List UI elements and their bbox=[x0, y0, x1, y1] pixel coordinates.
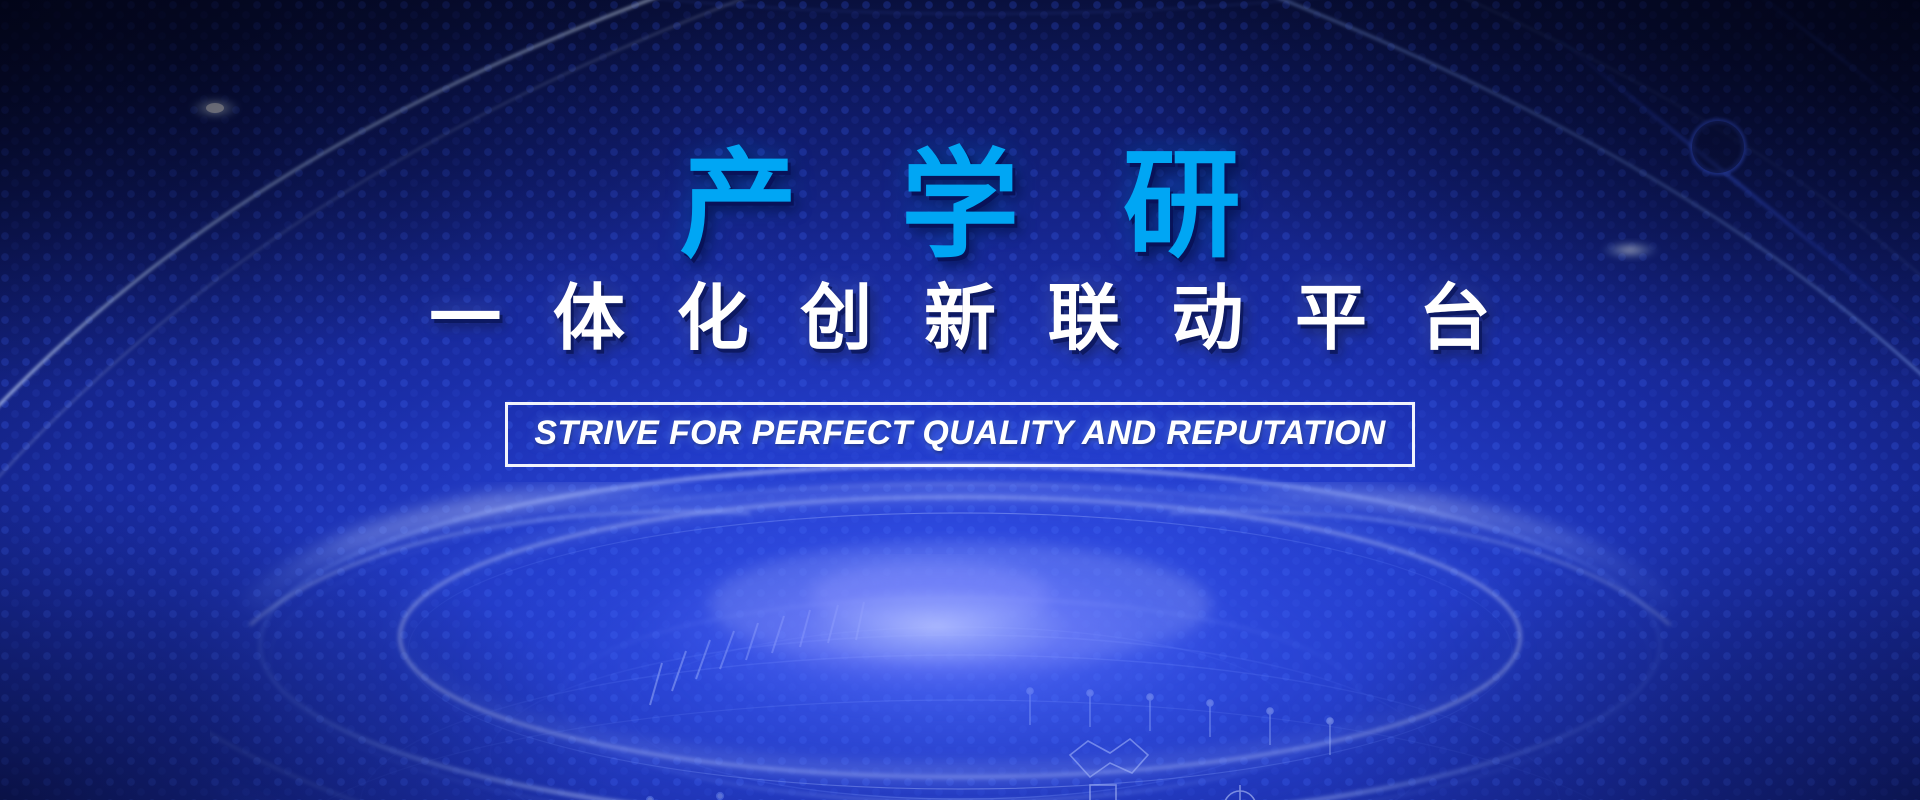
slogan-text: STRIVE FOR PERFECT QUALITY AND REPUTATIO… bbox=[534, 414, 1385, 452]
hero-banner: 产 学 研 一 体 化 创 新 联 动 平 台 STRIVE FOR PERFE… bbox=[0, 0, 1920, 800]
slogan-box: STRIVE FOR PERFECT QUALITY AND REPUTATIO… bbox=[505, 402, 1414, 467]
banner-title-primary: 产 学 研 bbox=[0, 146, 1920, 266]
banner-title-secondary: 一 体 化 创 新 联 动 平 台 bbox=[0, 282, 1920, 358]
banner-text-block: 产 学 研 一 体 化 创 新 联 动 平 台 STRIVE FOR PERFE… bbox=[0, 0, 1920, 467]
